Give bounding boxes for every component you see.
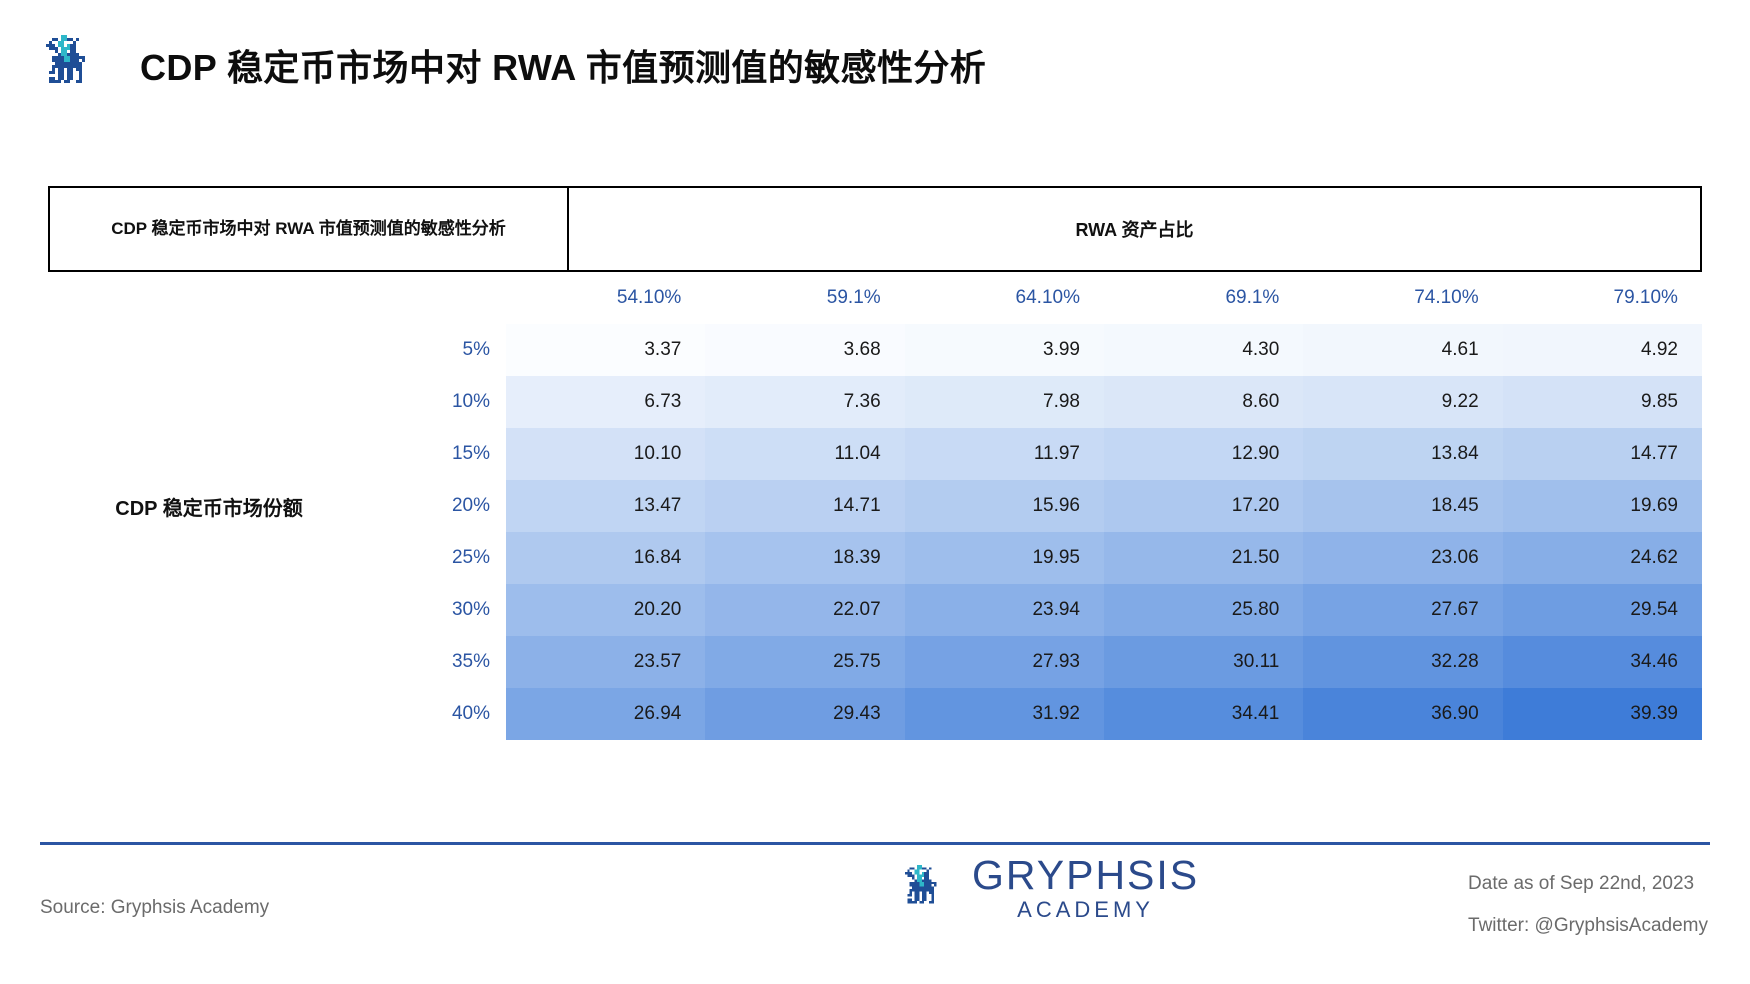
heat-cell: 22.07	[705, 584, 904, 636]
heat-cell: 27.67	[1303, 584, 1502, 636]
footer-meta: Date as of Sep 22nd, 2023 Twitter: @Gryp…	[1468, 873, 1708, 957]
column-header: 74.10%	[1303, 272, 1502, 324]
gryphsis-griffin-logo-icon	[900, 860, 958, 918]
heat-cell: 16.84	[506, 532, 705, 584]
heat-cell: 19.95	[905, 532, 1104, 584]
heat-cell: 9.22	[1303, 376, 1502, 428]
heat-cell: 20.20	[506, 584, 705, 636]
heat-cell: 23.06	[1303, 532, 1502, 584]
column-header: 64.10%	[905, 272, 1104, 324]
heat-cell: 24.62	[1503, 532, 1702, 584]
table-header-band: CDP 稳定币市场中对 RWA 市值预测值的敏感性分析 RWA 资产占比	[48, 186, 1702, 272]
heat-cell: 31.92	[905, 688, 1104, 740]
heat-cell: 18.45	[1303, 480, 1502, 532]
heat-cell: 13.47	[506, 480, 705, 532]
heat-cell: 29.43	[705, 688, 904, 740]
heat-cell: 6.73	[506, 376, 705, 428]
heat-cell: 7.36	[705, 376, 904, 428]
heat-cell: 4.30	[1104, 324, 1303, 376]
gryphsis-griffin-logo-icon	[40, 29, 112, 101]
heat-cell: 15.96	[905, 480, 1104, 532]
heat-cell: 36.90	[1303, 688, 1502, 740]
sensitivity-table: CDP 稳定币市场中对 RWA 市值预测值的敏感性分析 RWA 资产占比 CDP…	[48, 186, 1702, 740]
source-label: Source: Gryphsis Academy	[40, 897, 269, 919]
heat-cell: 4.61	[1303, 324, 1502, 376]
heat-cell: 3.68	[705, 324, 904, 376]
heat-cell: 3.37	[506, 324, 705, 376]
heat-cell: 25.80	[1104, 584, 1303, 636]
row-header: 25%	[370, 532, 506, 584]
table-row: 20% 13.47 14.71 15.96 17.20 18.45 19.69	[370, 480, 1702, 532]
heat-cell: 29.54	[1503, 584, 1702, 636]
heat-cell: 34.41	[1104, 688, 1303, 740]
row-header: 5%	[370, 324, 506, 376]
heat-cell: 3.99	[905, 324, 1104, 376]
heat-cell: 34.46	[1503, 636, 1702, 688]
heat-cell: 13.84	[1303, 428, 1502, 480]
heat-cell: 11.97	[905, 428, 1104, 480]
twitter-label: Twitter: @GryphsisAcademy	[1468, 915, 1708, 937]
table-row: 25% 16.84 18.39 19.95 21.50 23.06 24.62	[370, 532, 1702, 584]
heat-cell: 25.75	[705, 636, 904, 688]
column-header: 79.10%	[1503, 272, 1702, 324]
table-corner-label: CDP 稳定币市场中对 RWA 市值预测值的敏感性分析	[50, 188, 569, 270]
heat-cell: 12.90	[1104, 428, 1303, 480]
heatmap-body: 54.10% 59.1% 64.10% 69.1% 74.10% 79.10% …	[370, 272, 1702, 740]
heat-cell: 14.77	[1503, 428, 1702, 480]
slide-root: CDP 稳定币市场中对 RWA 市值预测值的敏感性分析 CDP 稳定币市场中对 …	[0, 0, 1750, 984]
row-header: 35%	[370, 636, 506, 688]
column-header-corner	[370, 272, 506, 324]
row-axis-title: CDP 稳定币市场份额	[48, 272, 370, 740]
heat-cell: 32.28	[1303, 636, 1502, 688]
table-row: 15% 10.10 11.04 11.97 12.90 13.84 14.77	[370, 428, 1702, 480]
heatmap-grid: CDP 稳定币市场份额 54.10% 59.1% 64.10% 69.1% 74…	[48, 272, 1702, 740]
row-header: 30%	[370, 584, 506, 636]
date-label: Date as of Sep 22nd, 2023	[1468, 873, 1708, 895]
table-row: 10% 6.73 7.36 7.98 8.60 9.22 9.85	[370, 376, 1702, 428]
footer-brand: GRYPHSIS ACADEMY	[900, 855, 1199, 923]
heat-cell: 27.93	[905, 636, 1104, 688]
heat-cell: 23.94	[905, 584, 1104, 636]
heat-cell: 9.85	[1503, 376, 1702, 428]
page-title: CDP 稳定币市场中对 RWA 市值预测值的敏感性分析	[140, 39, 986, 91]
heat-cell: 14.71	[705, 480, 904, 532]
brand-sub: ACADEMY	[972, 897, 1199, 923]
column-header-row: 54.10% 59.1% 64.10% 69.1% 74.10% 79.10%	[370, 272, 1702, 324]
brand-name: GRYPHSIS	[972, 855, 1199, 895]
heat-cell: 10.10	[506, 428, 705, 480]
table-row: 5% 3.37 3.68 3.99 4.30 4.61 4.92	[370, 324, 1702, 376]
heat-cell: 39.39	[1503, 688, 1702, 740]
column-header: 69.1%	[1104, 272, 1303, 324]
heat-cell: 30.11	[1104, 636, 1303, 688]
row-header: 10%	[370, 376, 506, 428]
heat-cell: 17.20	[1104, 480, 1303, 532]
heat-cell: 18.39	[705, 532, 904, 584]
column-axis-title: RWA 资产占比	[569, 188, 1700, 270]
row-header: 15%	[370, 428, 506, 480]
row-header: 20%	[370, 480, 506, 532]
heat-cell: 23.57	[506, 636, 705, 688]
heat-cell: 19.69	[1503, 480, 1702, 532]
slide-header: CDP 稳定币市场中对 RWA 市值预测值的敏感性分析	[0, 0, 1750, 130]
heat-cell: 8.60	[1104, 376, 1303, 428]
heat-cell: 26.94	[506, 688, 705, 740]
column-header: 54.10%	[506, 272, 705, 324]
heat-cell: 21.50	[1104, 532, 1303, 584]
row-header: 40%	[370, 688, 506, 740]
column-header: 59.1%	[705, 272, 904, 324]
heat-cell: 4.92	[1503, 324, 1702, 376]
heat-cell: 11.04	[705, 428, 904, 480]
slide-footer: Source: Gryphsis Academy	[0, 845, 1750, 984]
table-row: 40% 26.94 29.43 31.92 34.41 36.90 39.39	[370, 688, 1702, 740]
table-row: 30% 20.20 22.07 23.94 25.80 27.67 29.54	[370, 584, 1702, 636]
brand-text: GRYPHSIS ACADEMY	[972, 855, 1199, 923]
table-row: 35% 23.57 25.75 27.93 30.11 32.28 34.46	[370, 636, 1702, 688]
heat-cell: 7.98	[905, 376, 1104, 428]
